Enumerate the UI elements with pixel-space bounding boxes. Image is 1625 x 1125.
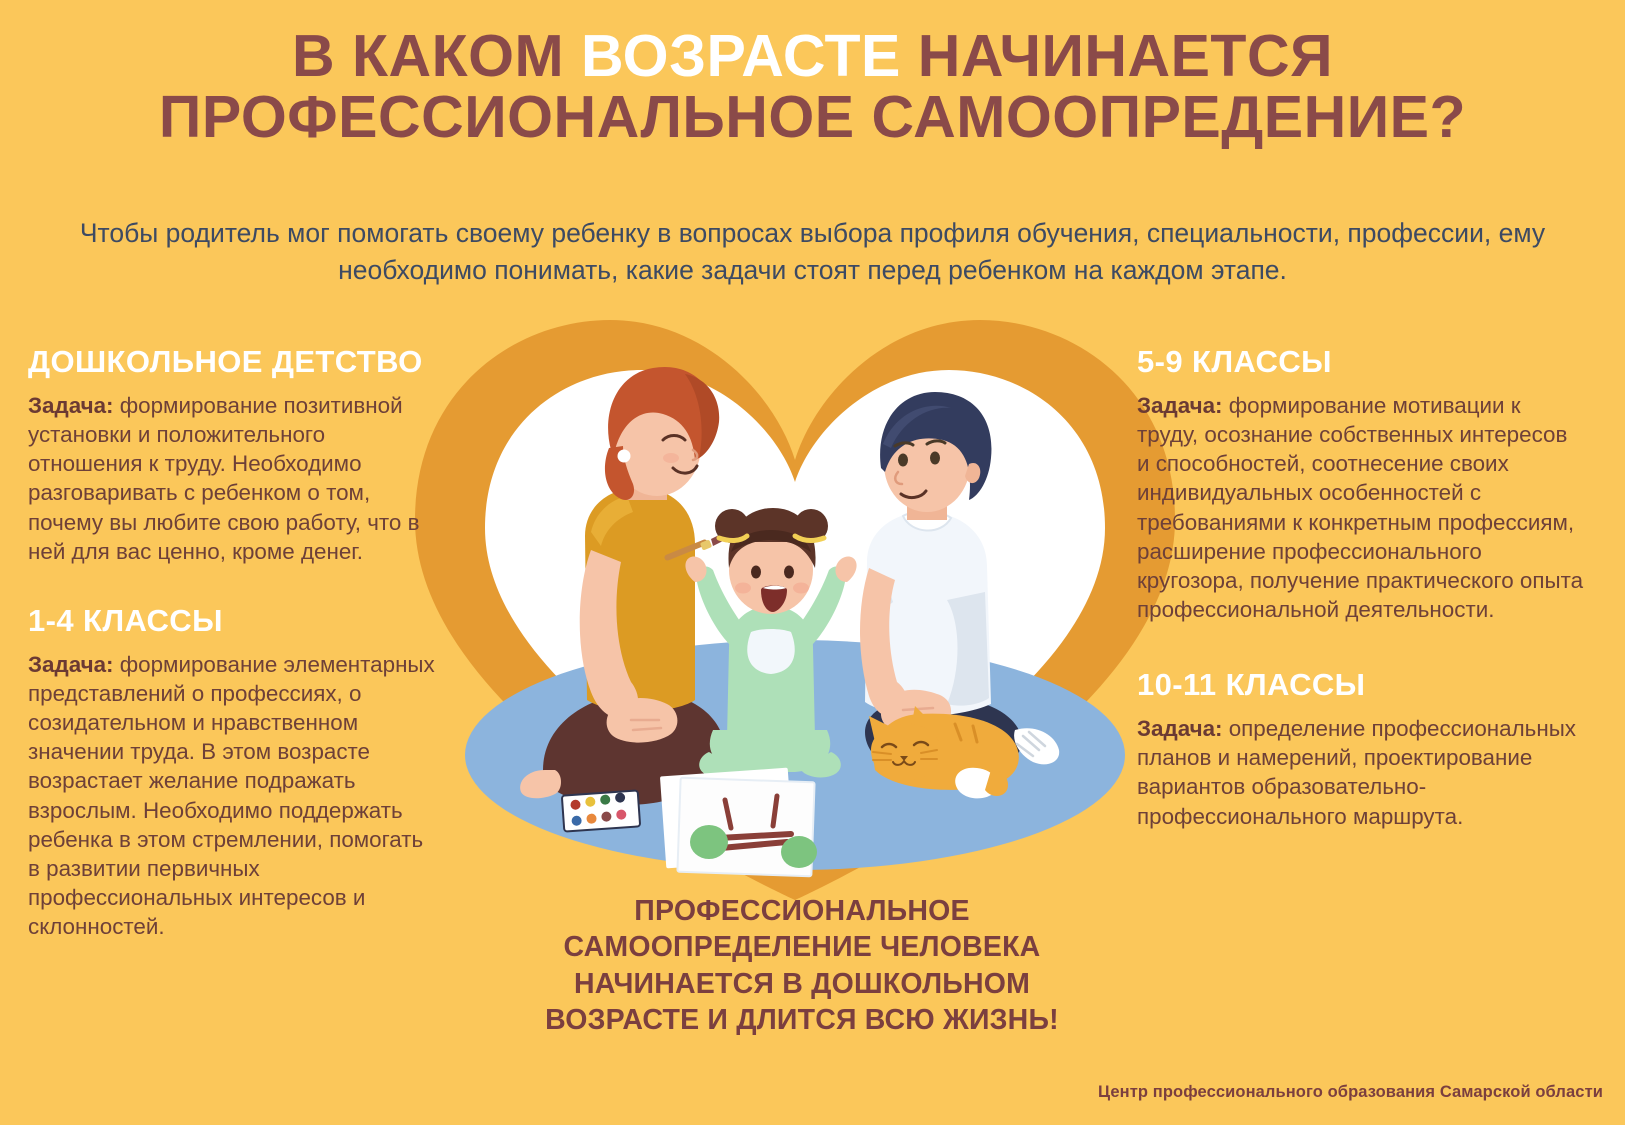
section-grades-1-4-heading: 1-4 КЛАССЫ <box>28 604 440 638</box>
title-line-2: ПРОФЕССИОНАЛЬНОЕ САМООПРЕДЕНИЕ? <box>0 87 1625 148</box>
section-preschool-label: Задача: <box>28 393 114 418</box>
right-column: 5-9 КЛАССЫ Задача: формирование мотиваци… <box>1137 345 1585 831</box>
center-caption: ПРОФЕССИОНАЛЬНОЕ САМООПРЕДЕЛЕНИЕ ЧЕЛОВЕК… <box>512 893 1092 1039</box>
page-subtitle: Чтобы родитель мог помогать своему ребен… <box>50 215 1575 288</box>
section-grades-1-4-text: формирование элементарных представлений … <box>28 652 435 939</box>
section-grades-1-4-body: Задача: формирование элементарных предст… <box>28 650 440 941</box>
section-grades-10-11-body: Задача: определение профессиональных пла… <box>1137 714 1585 831</box>
left-column: ДОШКОЛЬНОЕ ДЕТСТВО Задача: формирование … <box>28 345 440 941</box>
drawing-papers <box>660 768 817 877</box>
section-grades-5-9-heading: 5-9 КЛАССЫ <box>1137 345 1585 379</box>
title-line-1-before: В КАКОМ <box>292 23 581 89</box>
section-preschool: ДОШКОЛЬНОЕ ДЕТСТВО Задача: формирование … <box>28 345 440 566</box>
section-grades-10-11-heading: 10-11 КЛАССЫ <box>1137 668 1585 702</box>
section-grades-5-9: 5-9 КЛАССЫ Задача: формирование мотиваци… <box>1137 345 1585 624</box>
section-grades-5-9-body: Задача: формирование мотивации к труду, … <box>1137 391 1585 624</box>
section-preschool-text: формирование позитивной установки и поло… <box>28 393 419 564</box>
section-grades-10-11-label: Задача: <box>1137 716 1223 741</box>
title-line-1-after: НАЧИНАЕТСЯ <box>901 23 1333 89</box>
paint-palette <box>562 790 640 831</box>
section-preschool-heading: ДОШКОЛЬНОЕ ДЕТСТВО <box>28 345 440 379</box>
section-preschool-body: Задача: формирование позитивной установк… <box>28 391 440 566</box>
section-grades-5-9-text: формирование мотивации к труду, осознани… <box>1137 393 1583 622</box>
family-drawing-together-illustration <box>395 300 1195 900</box>
title-highlight-word: ВОЗРАСТЕ <box>581 23 901 89</box>
page-title: В КАКОМ ВОЗРАСТЕ НАЧИНАЕТСЯ ПРОФЕССИОНАЛ… <box>0 26 1625 148</box>
section-grades-5-9-label: Задача: <box>1137 393 1223 418</box>
title-line-1: В КАКОМ ВОЗРАСТЕ НАЧИНАЕТСЯ <box>0 26 1625 87</box>
section-grades-1-4: 1-4 КЛАССЫ Задача: формирование элемента… <box>28 604 440 941</box>
section-grades-10-11: 10-11 КЛАССЫ Задача: определение професс… <box>1137 668 1585 831</box>
infographic-page: В КАКОМ ВОЗРАСТЕ НАЧИНАЕТСЯ ПРОФЕССИОНАЛ… <box>0 0 1625 1125</box>
section-grades-1-4-label: Задача: <box>28 652 114 677</box>
footer-credit: Центр профессионального образования Сама… <box>1098 1083 1603 1102</box>
